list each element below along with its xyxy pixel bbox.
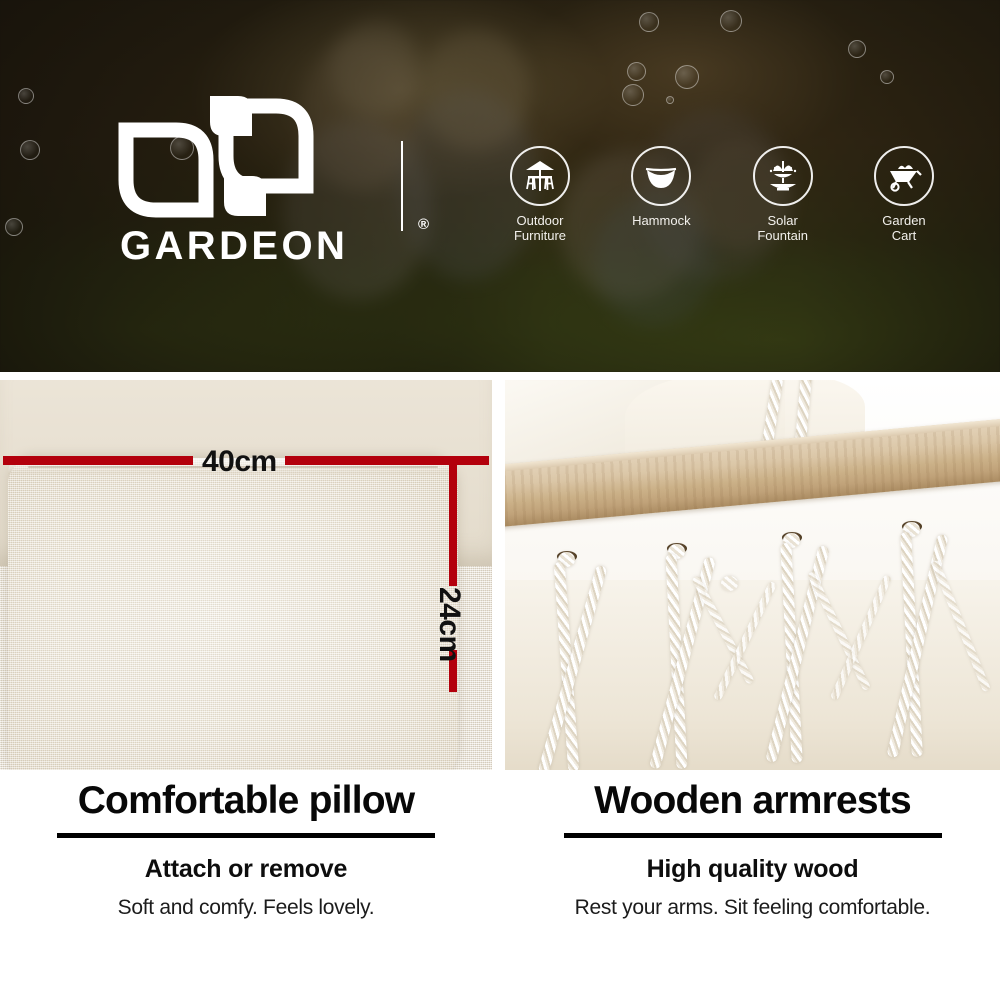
category-outdoor-furniture[interactable]: Outdoor Furniture xyxy=(488,146,592,256)
width-dimension-label: 40cm xyxy=(202,445,277,479)
width-dimension-line-right xyxy=(285,456,489,465)
garden-cart-icon xyxy=(874,146,934,206)
category-label: Solar Fountain xyxy=(757,213,808,243)
header-divider xyxy=(401,141,403,231)
title-rule xyxy=(564,833,942,838)
category-label: Outdoor Furniture xyxy=(514,213,566,243)
title-rule xyxy=(57,833,435,838)
armrest-title: Wooden armrests xyxy=(505,778,1000,824)
rope-knot-background xyxy=(721,576,738,591)
category-hammock[interactable]: Hammock xyxy=(609,146,713,256)
brand-banner: GARDEON ® Outdoor Furniture xyxy=(0,0,1000,372)
registered-mark: ® xyxy=(418,216,429,233)
outdoor-furniture-icon xyxy=(510,146,570,206)
pillow-subtitle: Attach or remove xyxy=(0,855,492,884)
height-dimension-line-top xyxy=(449,460,457,586)
pillow-caption-block: Comfortable pillow Attach or remove Soft… xyxy=(0,778,492,920)
wooden-armrest-photo xyxy=(505,380,1000,770)
hammock-icon xyxy=(631,146,691,206)
leaf-logo-icon xyxy=(118,88,318,223)
front-pillow xyxy=(8,458,458,770)
brand-logo[interactable]: GARDEON ® xyxy=(118,88,388,263)
solar-fountain-icon xyxy=(753,146,813,206)
pillow-photo: 40cm 24cm xyxy=(0,380,492,770)
pillow-description: Soft and comfy. Feels lovely. xyxy=(0,896,492,920)
category-label: Garden Cart xyxy=(882,213,925,243)
height-dimension-label: 24cm xyxy=(432,587,466,662)
brand-wordmark: GARDEON xyxy=(120,224,348,269)
category-solar-fountain[interactable]: Solar Fountain xyxy=(731,146,835,256)
category-label: Hammock xyxy=(632,213,691,228)
width-dimension-line-left xyxy=(3,456,193,465)
armrest-description: Rest your arms. Sit feeling comfortable. xyxy=(505,896,1000,920)
armrest-caption-block: Wooden armrests High quality wood Rest y… xyxy=(505,778,1000,920)
armrest-subtitle: High quality wood xyxy=(505,855,1000,884)
pillow-title: Comfortable pillow xyxy=(0,778,492,824)
category-icon-row: Outdoor Furniture Hammock xyxy=(488,146,956,256)
category-garden-cart[interactable]: Garden Cart xyxy=(852,146,956,256)
